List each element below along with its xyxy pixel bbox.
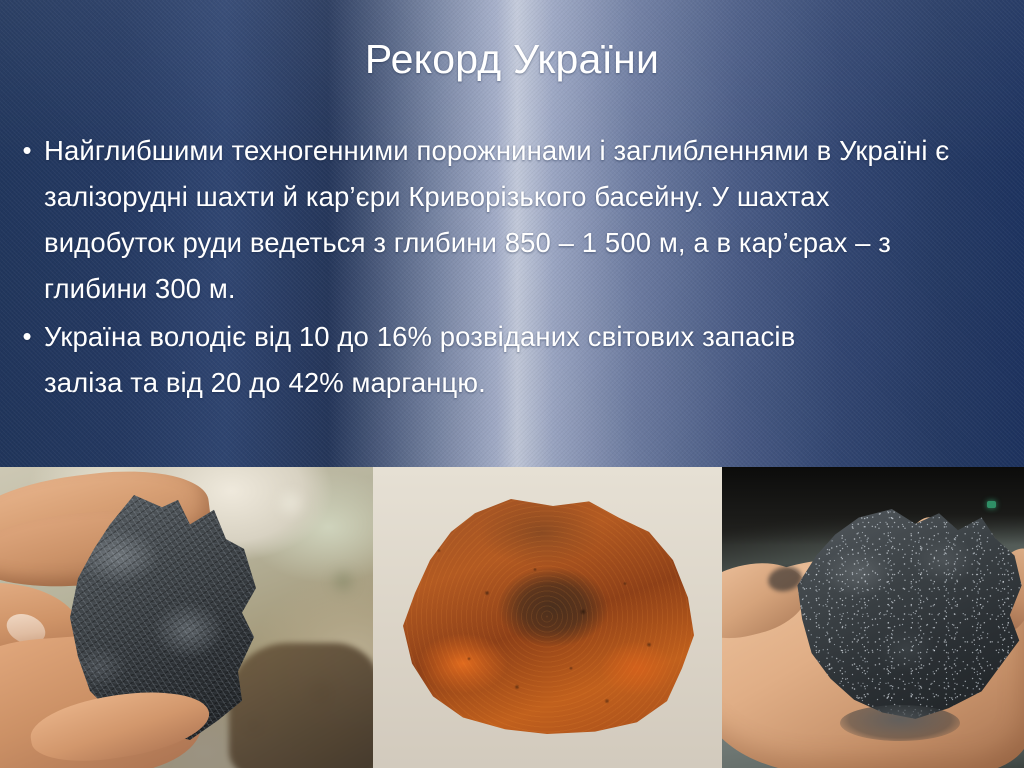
bullet-marker-icon: • [10,128,44,172]
bullet-item: • Україна володіє від 10 до 16% розвідан… [10,314,995,406]
photo-strip [0,467,1024,768]
slide-title: Рекорд України [0,36,1024,83]
photo3-spilled-granules [840,705,960,741]
bullet-marker-icon: • [10,314,44,358]
photo3-green-light [987,501,996,508]
bullet-text: Найглибшими техногенними порожнинами і з… [44,128,995,312]
presentation-slide: Рекорд України • Найглибшими техногенним… [0,0,1024,768]
bullet-text: Україна володіє від 10 до 16% розвіданих… [44,314,995,406]
bullet-item: • Найглибшими техногенними порожнинами і… [10,128,995,312]
rusty-iron-ore-specimen-photo [373,467,722,768]
slide-body: • Найглибшими техногенними порожнинами і… [10,128,995,408]
photo1-basket [229,643,373,768]
hand-holding-ore-concentrate-photo [722,467,1024,768]
hand-holding-dark-ore-photo [0,467,373,768]
